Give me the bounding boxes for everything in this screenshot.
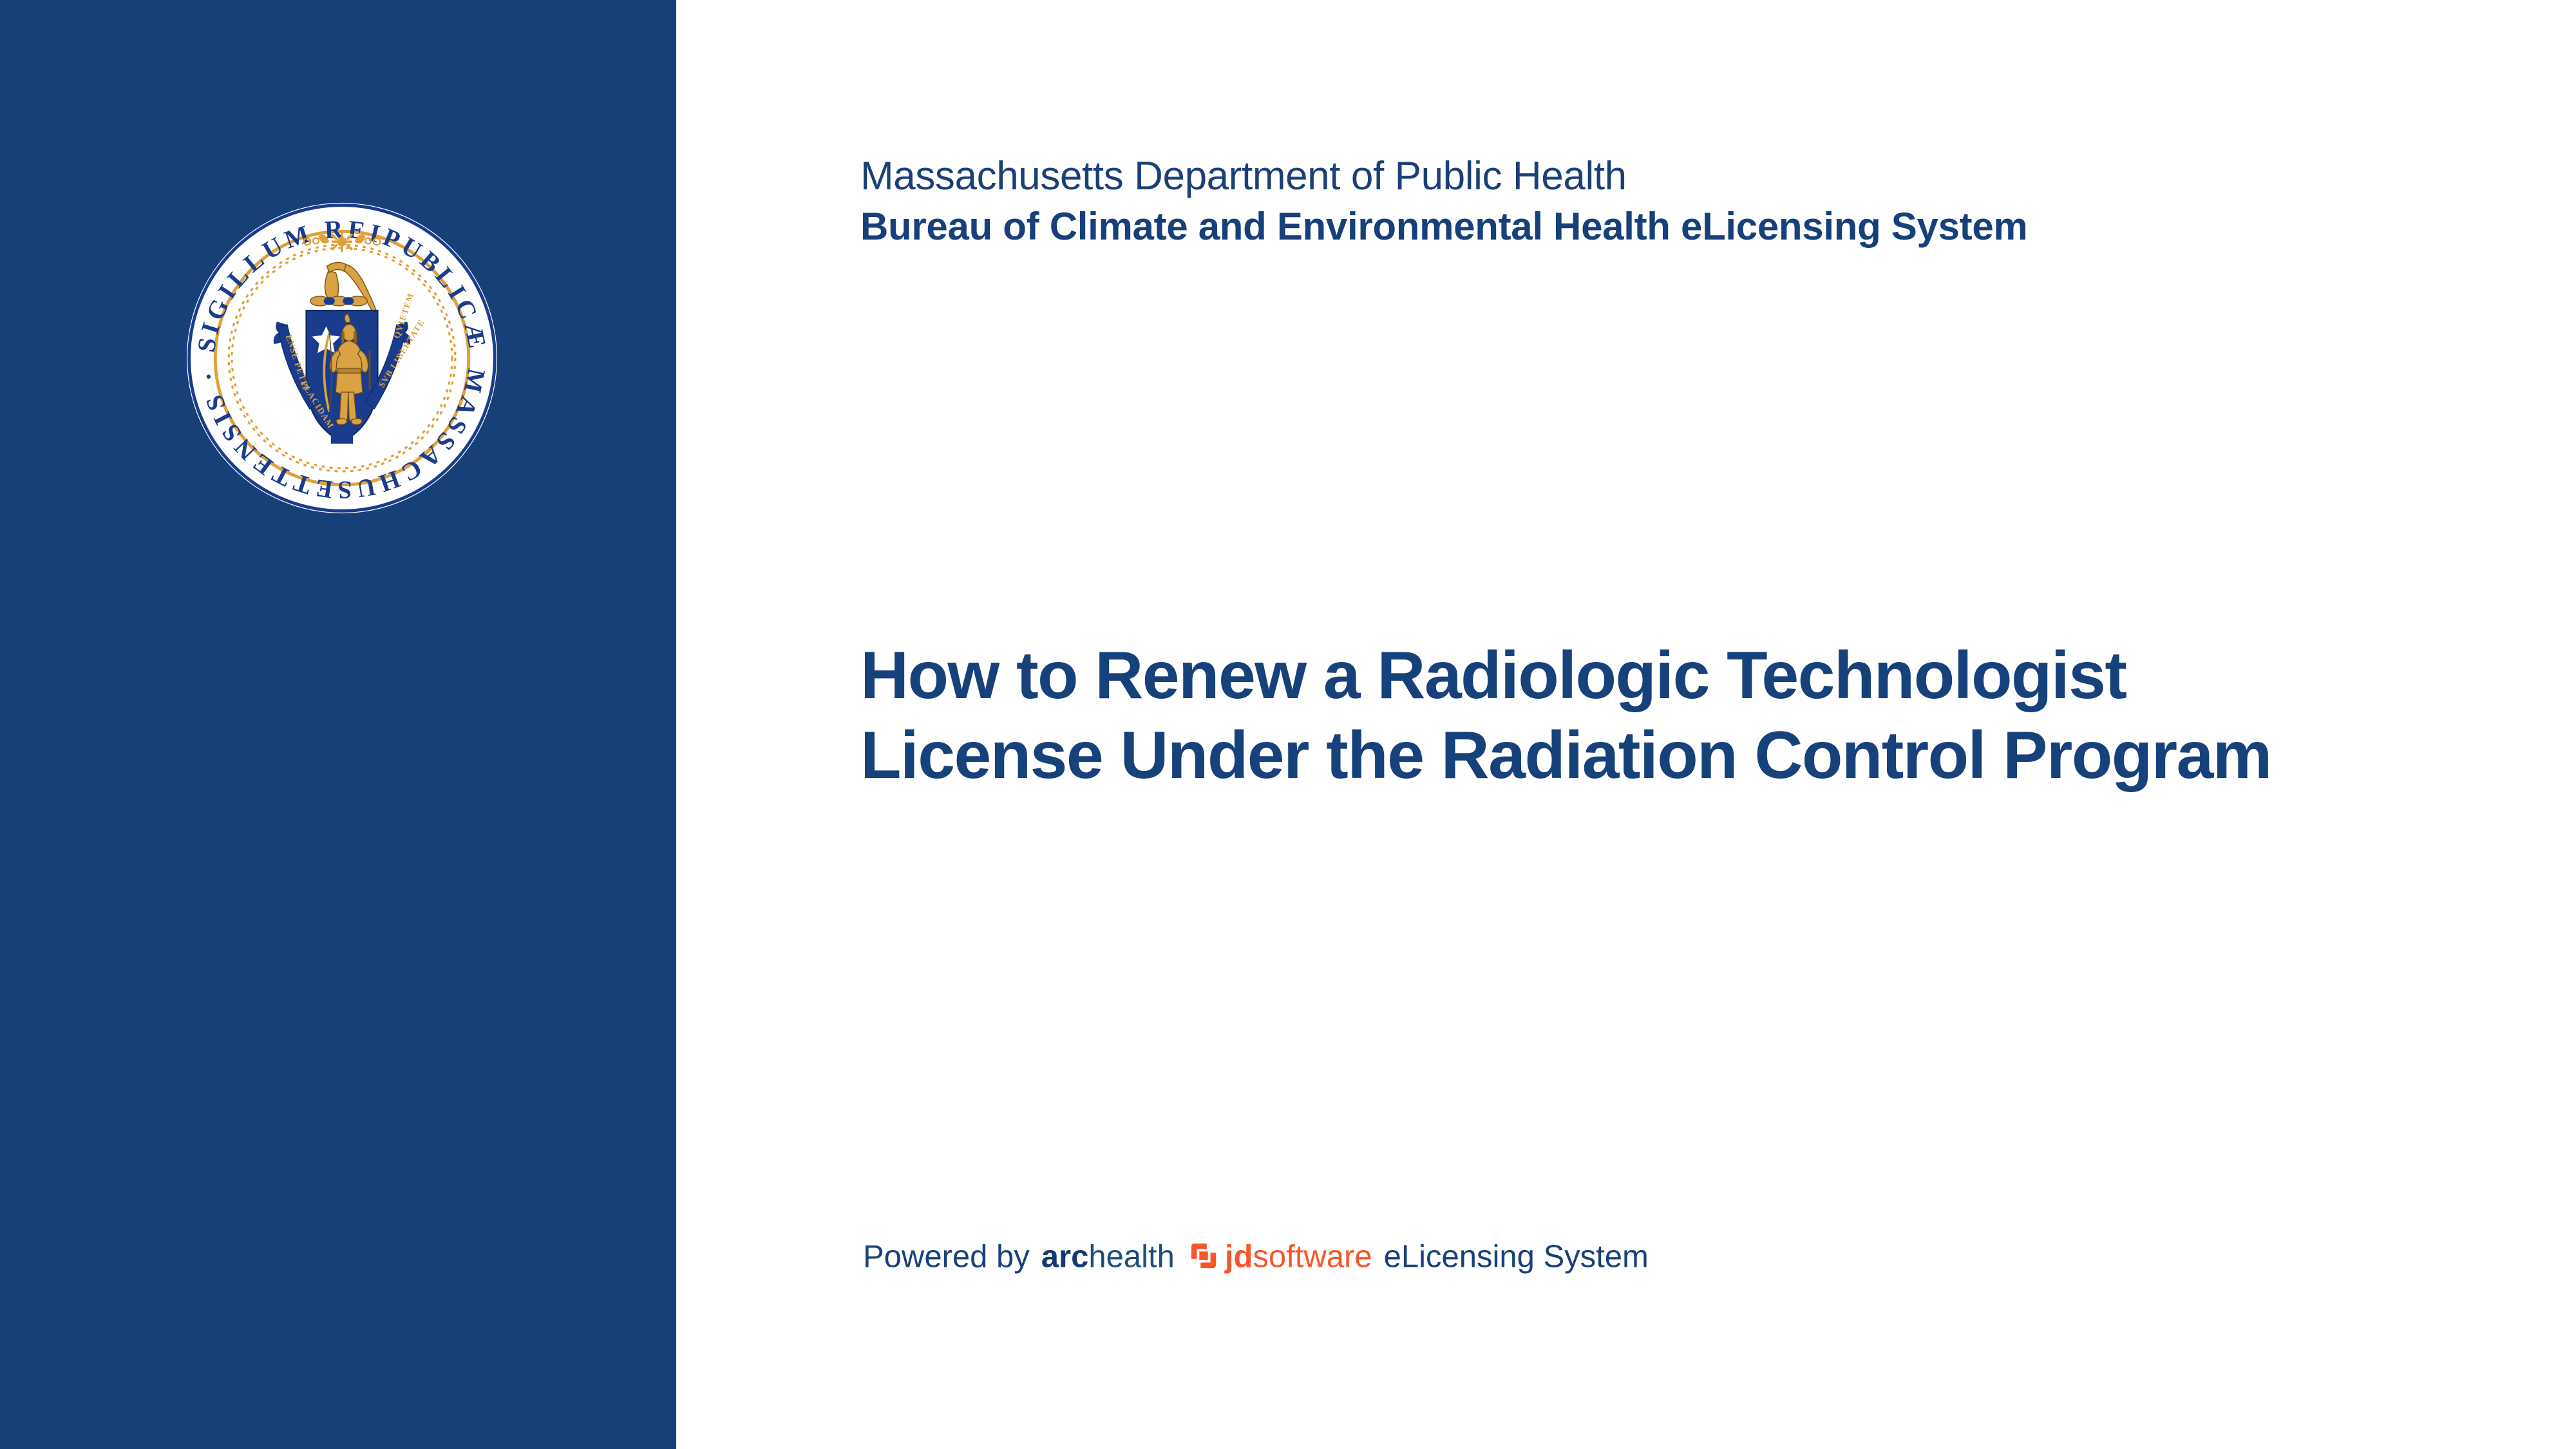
powered-by-footer: Powered byarchealth jdsoftwareeLicensing…	[863, 1240, 1649, 1273]
page-title-line-1: How to Renew a Radiologic Technologist	[860, 636, 2509, 716]
slide-content: Massachusetts Department of Public Healt…	[676, 0, 2576, 1449]
powered-by-label: Powered by	[863, 1240, 1030, 1274]
jd-overlapping-squares-icon	[1189, 1241, 1218, 1271]
presentation-title-slide: SIGILLUM REIPUBLICÆ MASSACHUSETTENSIS ·	[0, 0, 2576, 1449]
system-name: Bureau of Climate and Environmental Heal…	[860, 206, 2470, 247]
jdsoftware-brand-jd: jd	[1225, 1240, 1253, 1274]
massachusetts-state-seal-icon: SIGILLUM REIPUBLICÆ MASSACHUSETTENSIS ·	[184, 200, 500, 516]
page-title-line-2: License Under the Radiation Control Prog…	[860, 716, 2509, 796]
page-title: How to Renew a Radiologic Technologist L…	[860, 636, 2509, 796]
department-name: Massachusetts Department of Public Healt…	[860, 156, 2470, 197]
archealth-brand-health: health	[1088, 1240, 1175, 1274]
elicensing-system-label: eLicensing System	[1384, 1240, 1649, 1274]
left-brand-panel: SIGILLUM REIPUBLICÆ MASSACHUSETTENSIS ·	[0, 0, 676, 1449]
archealth-brand-arc: arc	[1041, 1240, 1089, 1274]
agency-heading: Massachusetts Department of Public Healt…	[860, 156, 2470, 247]
jdsoftware-brand-software: software	[1253, 1240, 1372, 1274]
